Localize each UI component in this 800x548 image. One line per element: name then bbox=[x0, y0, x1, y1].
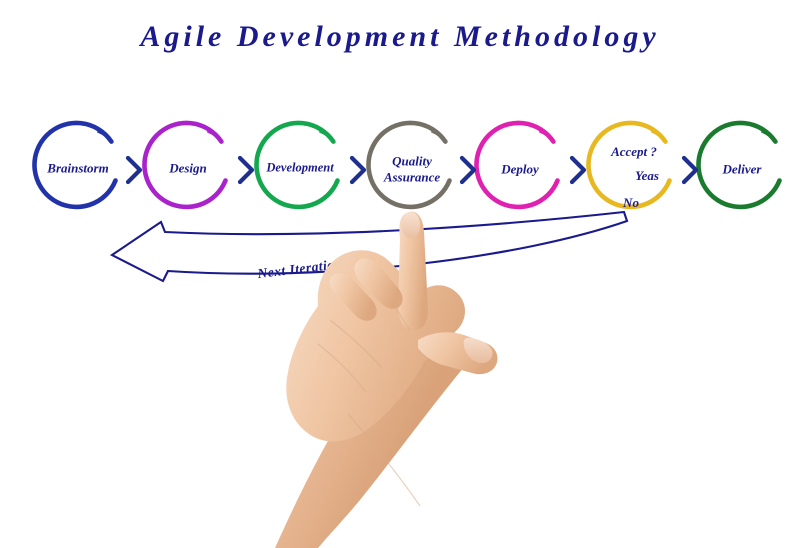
connector-chevron-4 bbox=[462, 158, 474, 182]
connector-layer bbox=[0, 0, 800, 548]
connector-chevron-1 bbox=[128, 158, 140, 182]
connector-chevron-5 bbox=[572, 158, 584, 182]
connector-chevron-2 bbox=[240, 158, 252, 182]
diagram-canvas: Agile Development Methodology bbox=[0, 0, 800, 548]
connector-chevron-6 bbox=[684, 158, 696, 182]
connector-chevron-3 bbox=[352, 158, 364, 182]
